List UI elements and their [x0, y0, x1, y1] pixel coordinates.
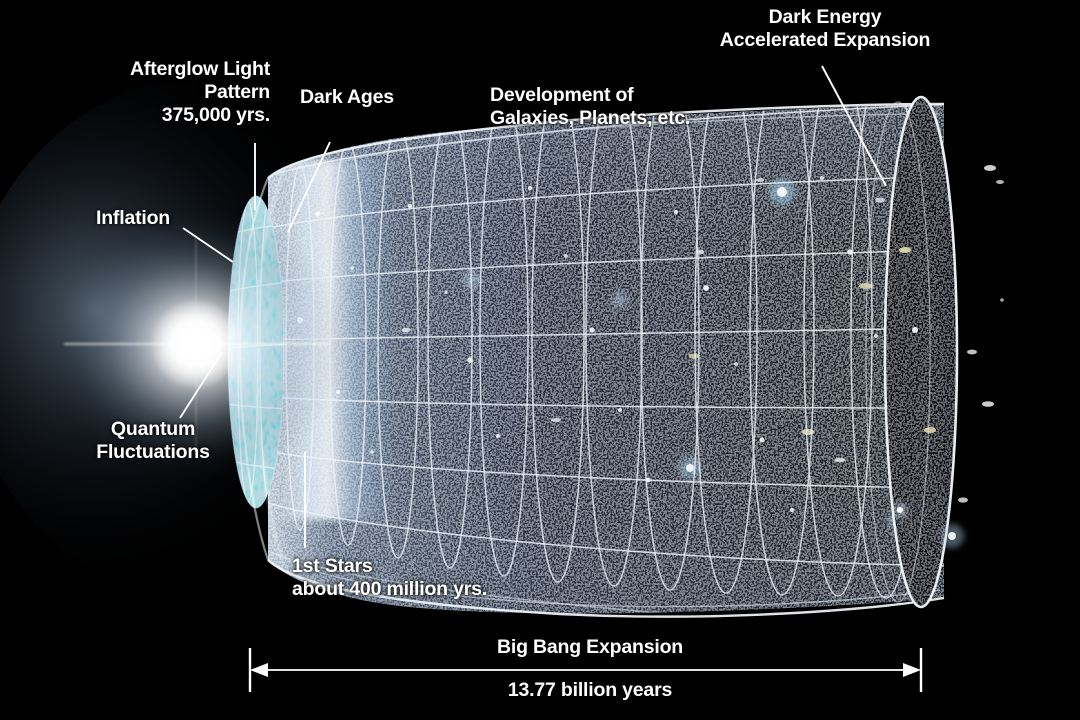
big-bang-glow: [46, 204, 346, 484]
cone-artwork: [0, 0, 1080, 720]
universe-timeline-figure: Afterglow Light Pattern 375,000 yrs. Dar…: [0, 0, 1080, 720]
